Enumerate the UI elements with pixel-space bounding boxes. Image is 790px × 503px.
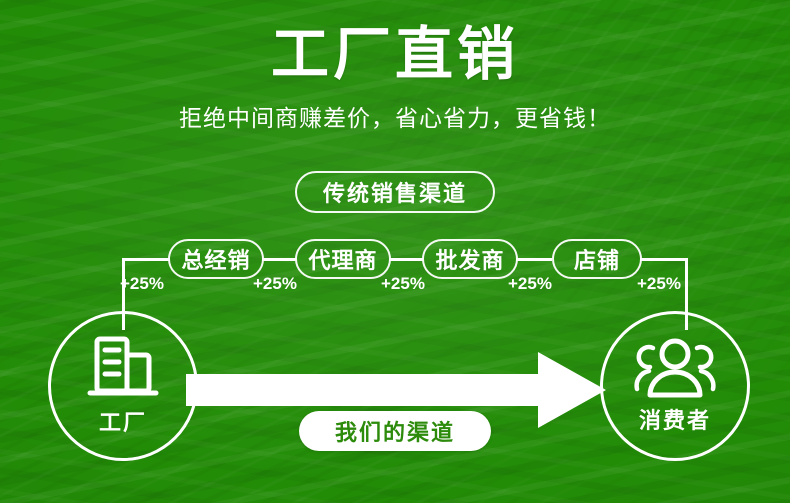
connector-line-right-horizontal bbox=[640, 258, 688, 261]
channel-node-4-label: 店铺 bbox=[574, 243, 620, 275]
channel-node-3-label: 批发商 bbox=[435, 243, 504, 275]
endpoint-factory-label: 工厂 bbox=[99, 405, 147, 437]
promo-banner: 工厂直销 拒绝中间商赚差价，省心省力，更省钱！ 传统销售渠道 总经销 代理商 批… bbox=[0, 0, 790, 503]
channel-node-1-label: 总经销 bbox=[181, 243, 250, 275]
channel-node-4[interactable]: 店铺 bbox=[552, 239, 642, 279]
markup-label-5: +25% bbox=[637, 274, 681, 294]
markup-label-1: +25% bbox=[120, 274, 164, 294]
connector-line-node3-node4 bbox=[516, 258, 552, 261]
connector-line-left-horizontal bbox=[122, 258, 170, 261]
our-channel-title: 我们的渠道 bbox=[299, 411, 491, 451]
people-group-icon bbox=[634, 337, 716, 399]
channel-node-2-label: 代理商 bbox=[308, 243, 377, 275]
channel-node-1[interactable]: 总经销 bbox=[168, 239, 264, 279]
factory-building-icon bbox=[87, 335, 159, 401]
connector-line-node2-node3 bbox=[389, 258, 423, 261]
connector-line-node1-node2 bbox=[262, 258, 296, 261]
channel-node-3[interactable]: 批发商 bbox=[422, 239, 518, 279]
endpoint-consumer[interactable]: 消费者 bbox=[600, 311, 750, 461]
markup-label-2: +25% bbox=[253, 274, 297, 294]
endpoint-consumer-label: 消费者 bbox=[639, 403, 711, 435]
markup-label-3: +25% bbox=[381, 274, 425, 294]
endpoint-factory[interactable]: 工厂 bbox=[48, 311, 198, 461]
markup-label-4: +25% bbox=[508, 274, 552, 294]
page-subtitle: 拒绝中间商赚差价，省心省力，更省钱！ bbox=[0, 103, 790, 133]
channel-node-2[interactable]: 代理商 bbox=[295, 239, 391, 279]
page-title: 工厂直销 bbox=[0, 22, 790, 88]
traditional-channel-title: 传统销售渠道 bbox=[295, 171, 495, 213]
